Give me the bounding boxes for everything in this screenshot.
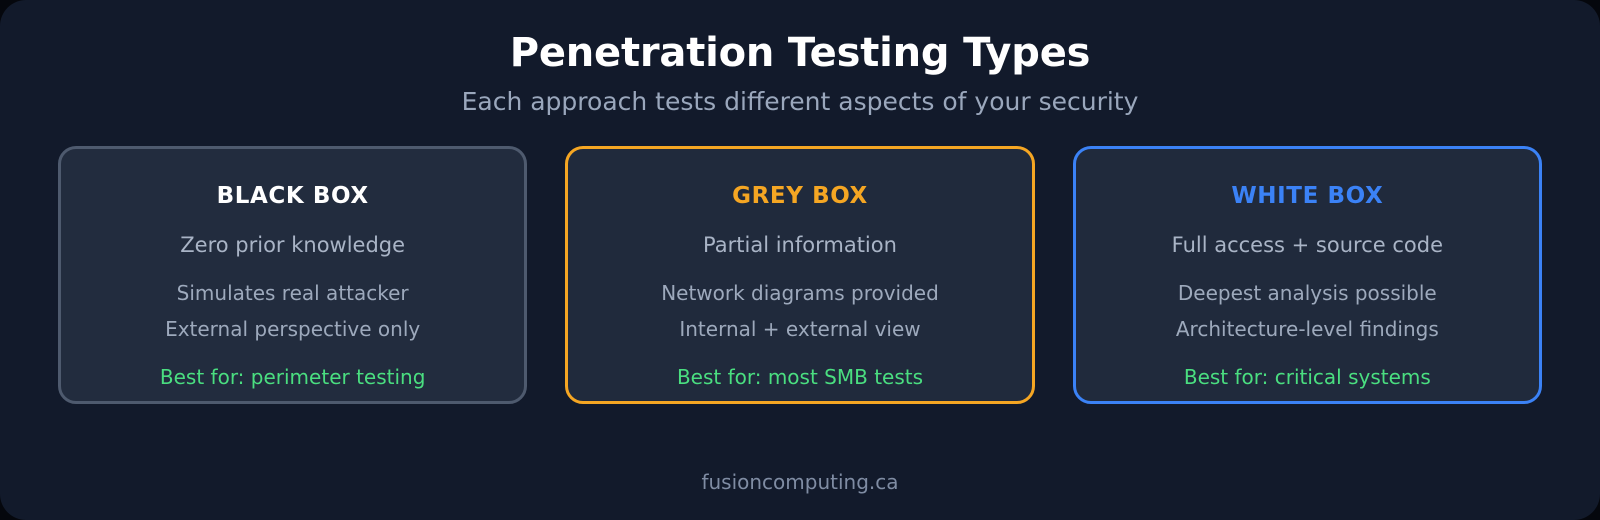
page-title: Penetration Testing Types [0, 30, 1600, 77]
card-lead-black-box: Zero prior knowledge [180, 233, 405, 258]
card-grey-box[interactable]: GREY BOX Partial information Network dia… [565, 146, 1034, 404]
card-lead-white-box: Full access + source code [1172, 233, 1443, 258]
card-title-grey-box: GREY BOX [732, 183, 868, 211]
card-title-black-box: BLACK BOX [217, 183, 369, 211]
card-point: External perspective only [165, 317, 420, 341]
card-best-for-white-box: Best for: critical systems [1184, 365, 1431, 389]
card-white-box[interactable]: WHITE BOX Full access + source code Deep… [1073, 146, 1542, 404]
card-lead-grey-box: Partial information [703, 233, 897, 258]
footer-website: fusioncomputing.ca [0, 470, 1600, 494]
infographic-root: Penetration Testing Types Each approach … [0, 0, 1600, 520]
header: Penetration Testing Types Each approach … [0, 0, 1600, 117]
page-subtitle: Each approach tests different aspects of… [0, 87, 1600, 117]
card-black-box[interactable]: BLACK BOX Zero prior knowledge Simulates… [58, 146, 527, 404]
card-point: Simulates real attacker [177, 281, 409, 305]
cards-row: BLACK BOX Zero prior knowledge Simulates… [0, 146, 1600, 404]
card-best-for-black-box: Best for: perimeter testing [160, 365, 426, 389]
card-point: Architecture-level findings [1176, 317, 1439, 341]
card-points-white-box: Deepest analysis possible Architecture-l… [1176, 281, 1439, 341]
card-points-grey-box: Network diagrams provided Internal + ext… [661, 281, 939, 341]
card-point: Deepest analysis possible [1178, 281, 1437, 305]
card-points-black-box: Simulates real attacker External perspec… [165, 281, 420, 341]
card-point: Network diagrams provided [661, 281, 939, 305]
card-best-for-grey-box: Best for: most SMB tests [677, 365, 923, 389]
card-title-white-box: WHITE BOX [1231, 183, 1383, 211]
card-point: Internal + external view [679, 317, 920, 341]
